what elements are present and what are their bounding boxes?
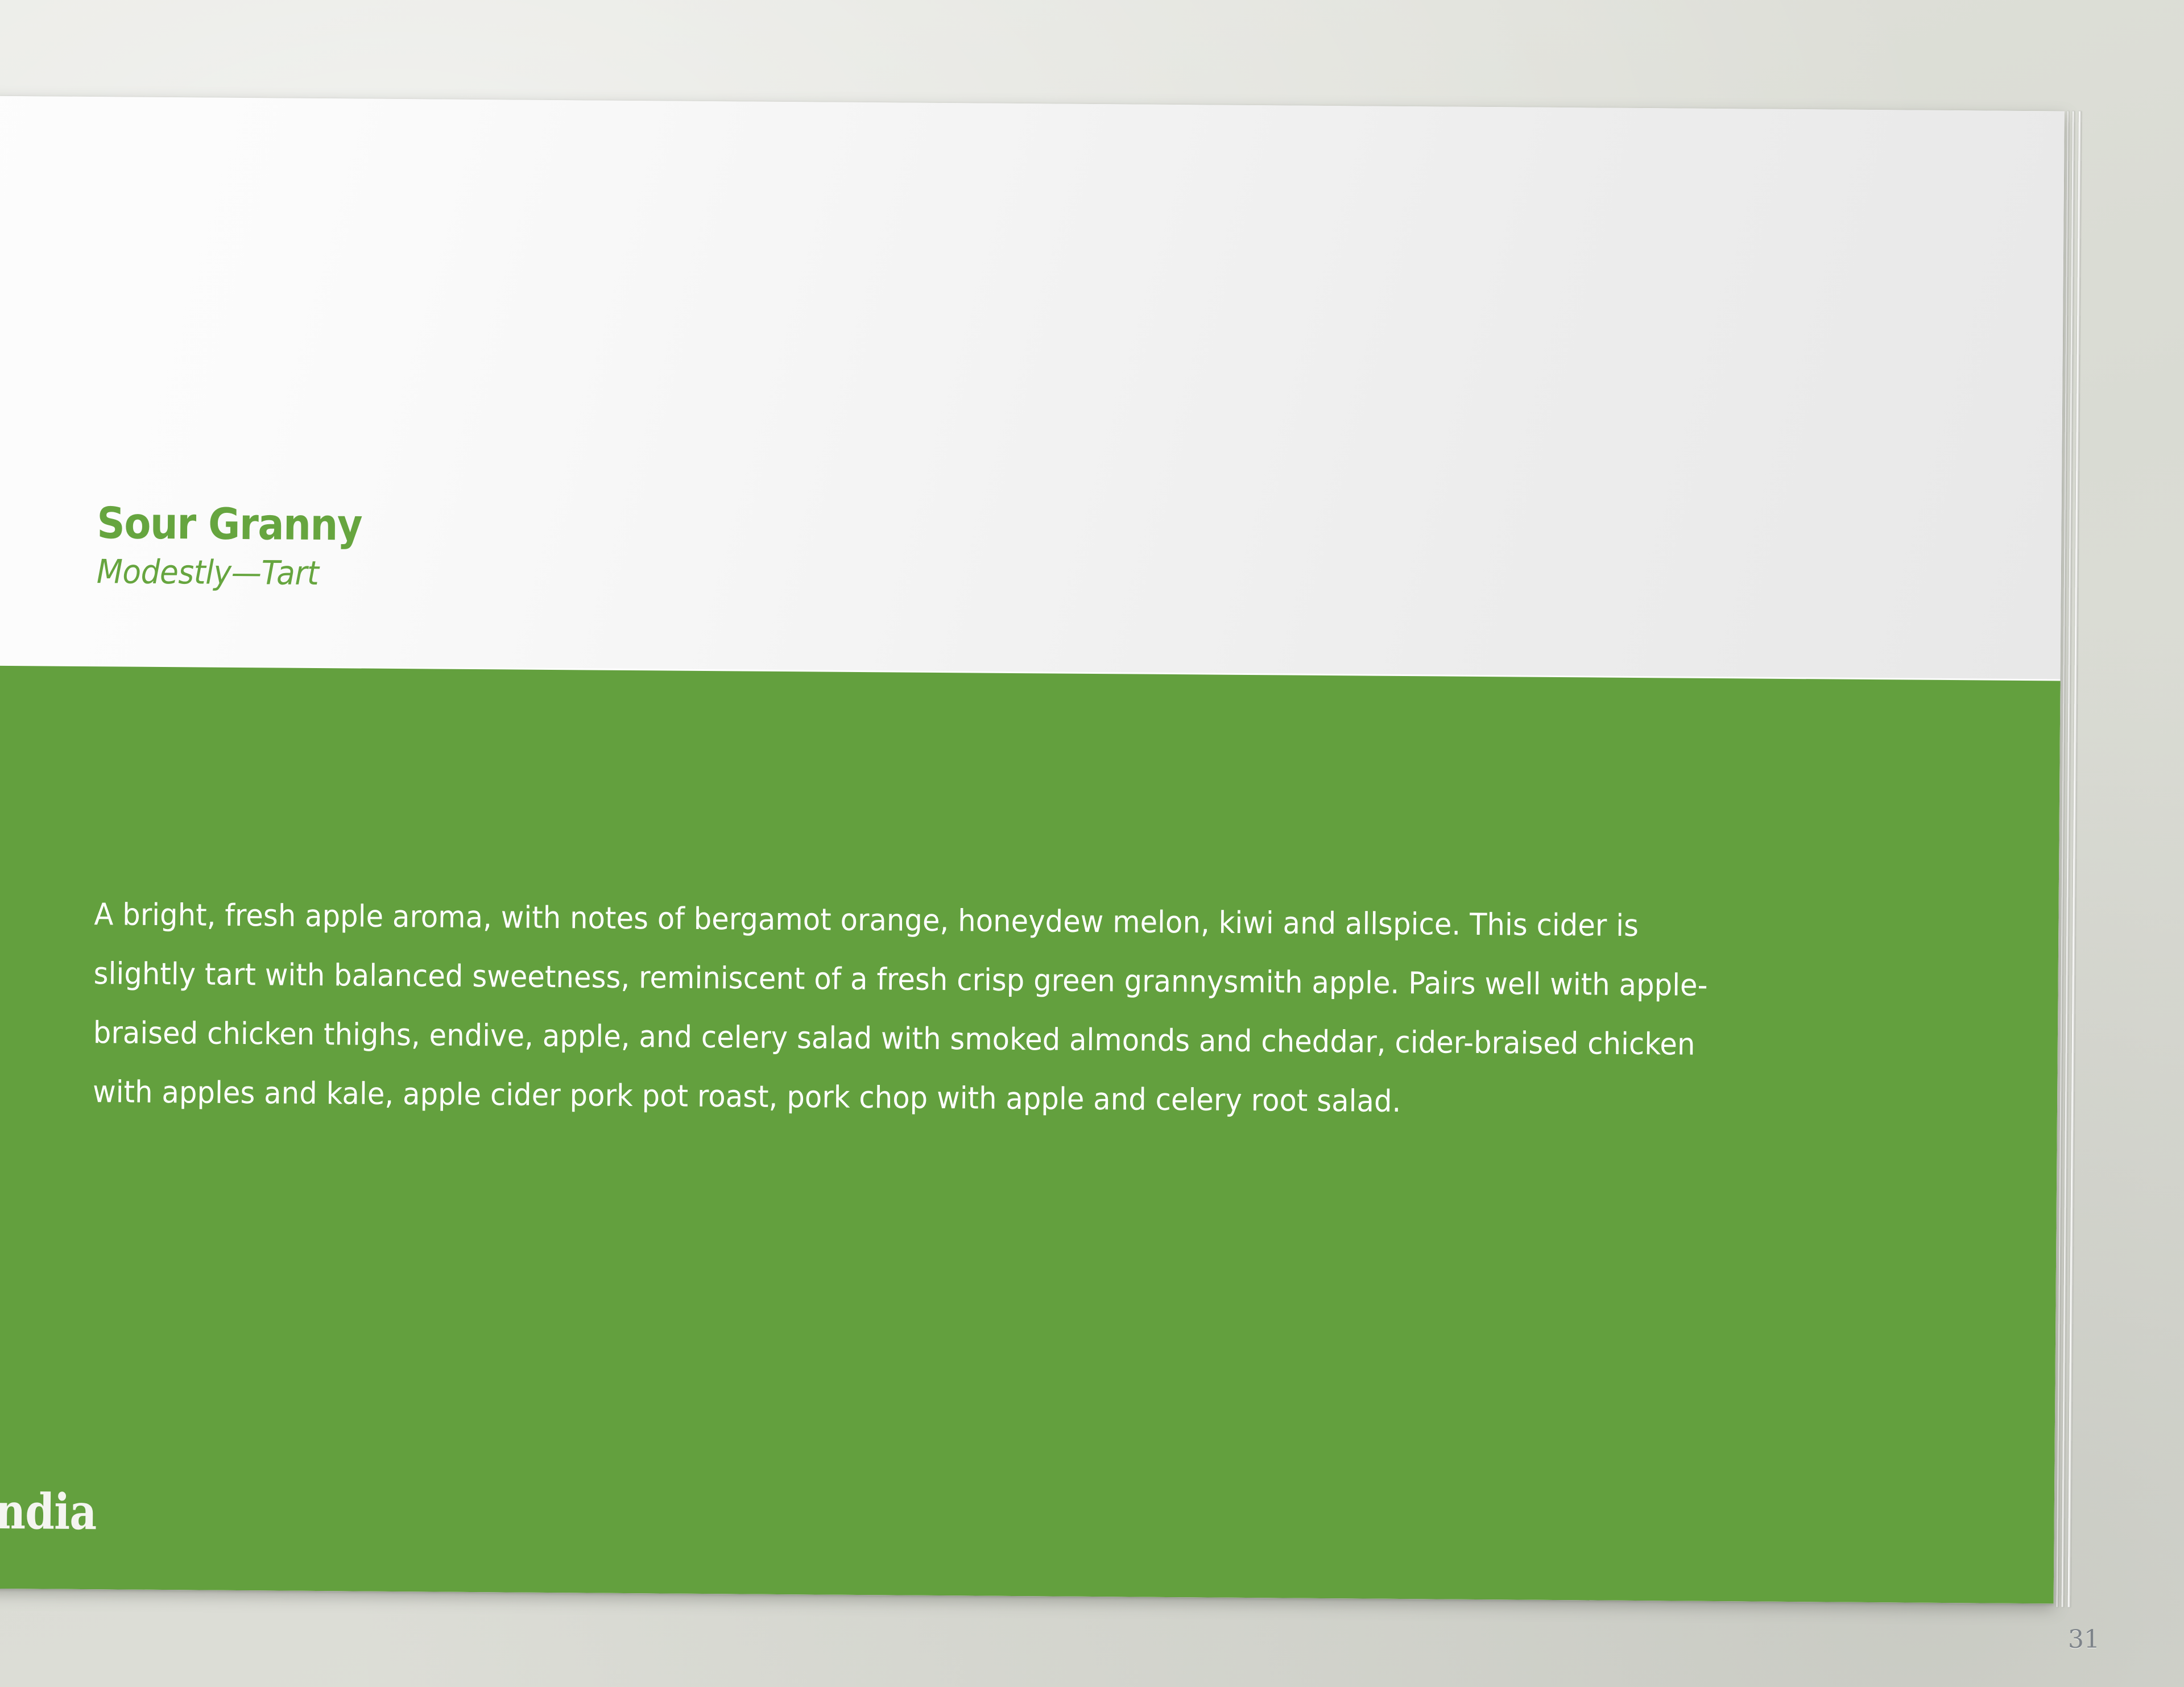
book-photo-scene: Sour Granny Modestly—Tart A bright, fres… xyxy=(0,0,2184,1687)
title-block: Sour Granny Modestly—Tart xyxy=(97,501,392,590)
page-title: Sour Granny xyxy=(97,501,362,546)
book-page-assembly: Sour Granny Modestly—Tart A bright, fres… xyxy=(0,96,2087,1604)
tasting-notes-section: A bright, fresh apple aroma, with notes … xyxy=(0,665,2061,1603)
page-subtitle: Modestly—Tart xyxy=(97,555,367,590)
tasting-notes-paragraph: A bright, fresh apple aroma, with notes … xyxy=(93,885,1722,1134)
page-header-section: Sour Granny Modestly—Tart xyxy=(0,96,2065,681)
page-number: 31 xyxy=(2068,1627,2100,1652)
book-page: Sour Granny Modestly—Tart A bright, fres… xyxy=(0,96,2065,1603)
page-stack-edge-icon xyxy=(2068,111,2082,1607)
origin-label: India xyxy=(0,1487,97,1537)
